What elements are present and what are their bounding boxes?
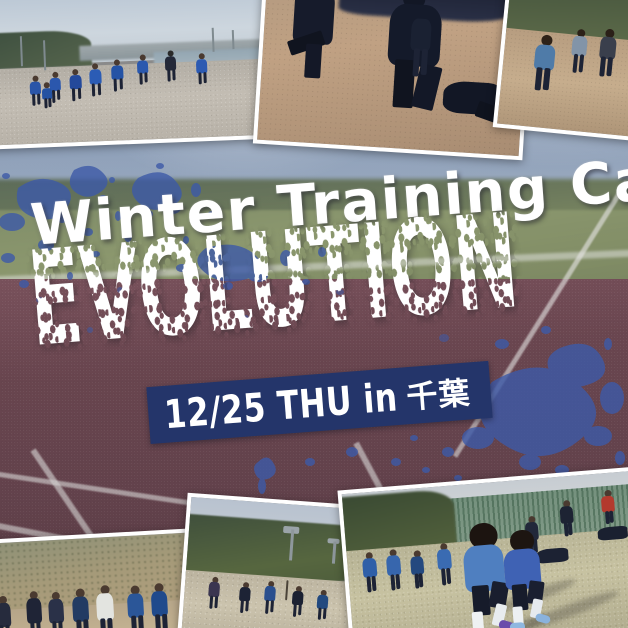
poster-canvas: Winter Training Canp EVOLUTION 12/25 THU…	[0, 0, 628, 628]
collage-photo-beach-run	[0, 0, 279, 150]
collage-photo-sprint-drill	[337, 466, 628, 628]
collage-photo-field-warmup	[493, 0, 628, 144]
collage-photo-ground-drill	[253, 0, 533, 160]
event-location-text: 千葉	[405, 367, 472, 417]
